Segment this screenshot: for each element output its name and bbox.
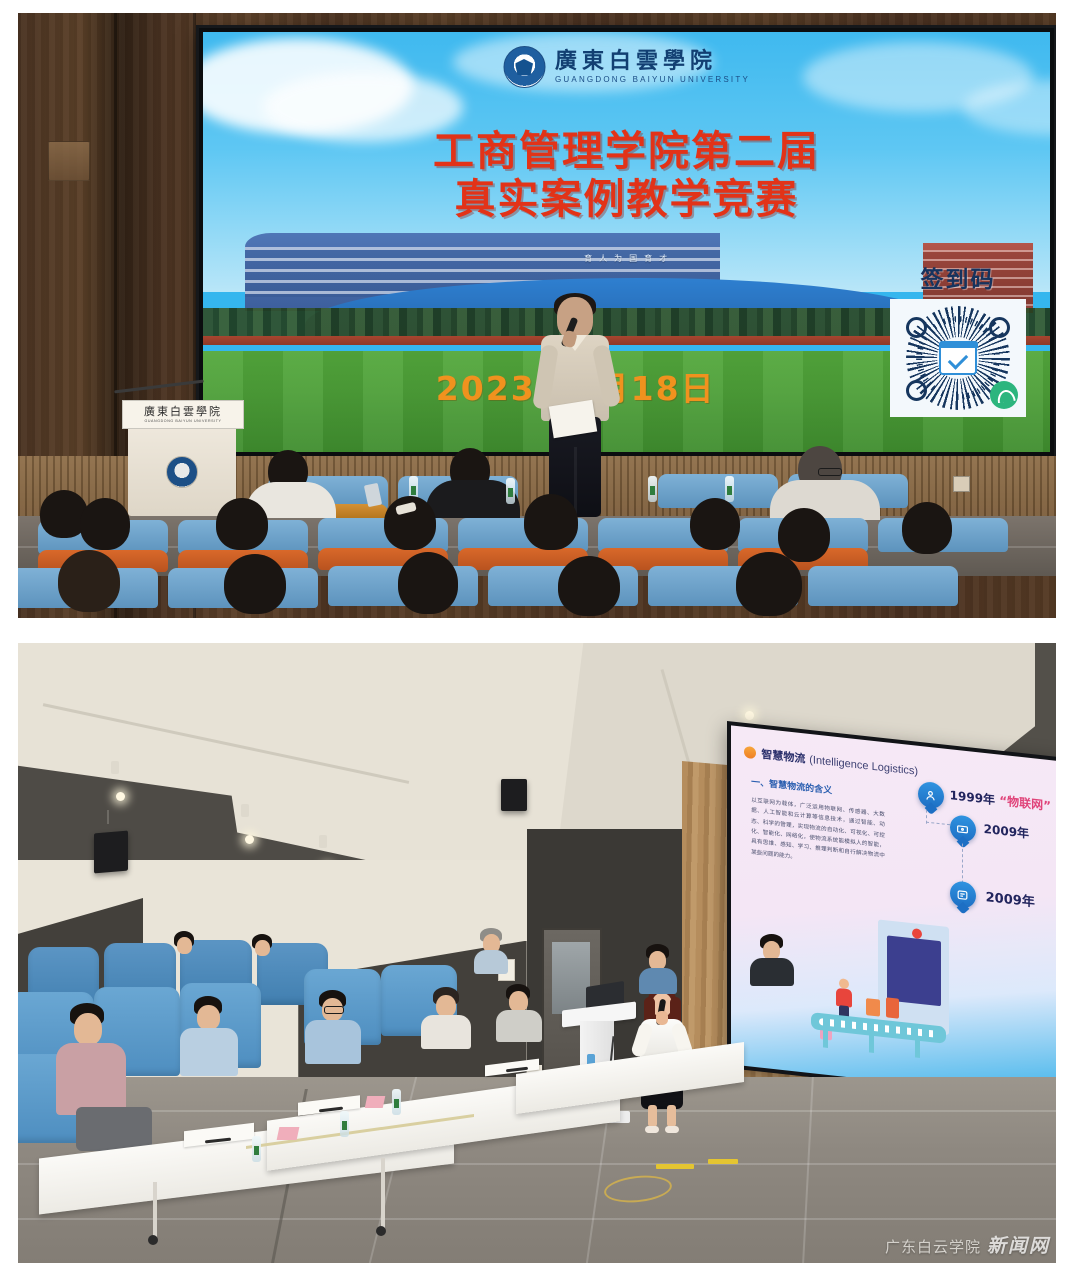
watermark: 广东白云学院 新闻网	[885, 1231, 1050, 1258]
floor-tape-marker	[708, 1159, 738, 1164]
podium-name-plate: 廣東白雲學院 GUANGDONG BAIYUN UNIVERSITY	[122, 400, 244, 429]
wallet-glyph	[956, 821, 969, 835]
track-light-glow	[116, 792, 125, 801]
water-bottle	[648, 476, 657, 502]
projection-screen-frame: 智慧物流 (Intelligence Logistics) 一、智慧物流的含义 …	[727, 721, 1056, 1105]
judge-body	[496, 1010, 542, 1042]
timeline-connector	[926, 821, 950, 825]
audience-head	[736, 552, 802, 616]
audience-head	[558, 556, 620, 616]
eyeglasses-icon	[818, 468, 842, 476]
qr-caption: 签到码	[890, 260, 1026, 294]
judge-body	[180, 1028, 238, 1076]
podium-name-en: GUANGDONG BAIYUN UNIVERSITY	[144, 419, 221, 423]
university-name-en: GUANGDONG BAIYUN UNIVERSITY	[555, 75, 750, 84]
projection-screen: 智慧物流 (Intelligence Logistics) 一、智慧物流的含义 …	[731, 725, 1056, 1101]
timeline-year-1: 1999年 “物联网”	[950, 786, 1051, 814]
desk-leg	[381, 1158, 385, 1232]
podium-name-cn: 廣東白雲學院	[144, 406, 222, 417]
audience-seat	[808, 566, 958, 606]
track-light-icon	[111, 761, 119, 774]
speaker-papers	[549, 400, 597, 438]
attendee-head	[177, 937, 192, 954]
qr-code-card	[890, 299, 1026, 417]
wall-speaker-icon	[94, 831, 128, 874]
attendee-head	[649, 951, 666, 970]
water-bottle	[340, 1111, 349, 1137]
audience-head	[398, 552, 458, 614]
judge-head	[436, 995, 456, 1017]
illustration-parcel	[866, 998, 880, 1017]
attendee-head	[255, 940, 270, 956]
judge-head	[509, 991, 528, 1012]
timeline-year-3: 2009年	[986, 886, 1035, 910]
water-bottle	[252, 1136, 261, 1162]
signin-qr-block: 签到码	[890, 260, 1026, 417]
bullet-dot-icon	[744, 745, 756, 758]
judge-body	[305, 1020, 361, 1064]
audience-head	[778, 508, 830, 562]
audience-head	[80, 498, 130, 550]
slide-heading-text: 智慧物流 (Intelligence Logistics)	[761, 745, 918, 778]
floor-tape-marker	[656, 1164, 694, 1169]
led-screen: 育人为国育才 廣東白雲學院 GUANGDONG BAIYUN UNIVERSIT…	[203, 32, 1050, 452]
led-screen-frame: 育人为国育才 廣東白雲學院 GUANGDONG BAIYUN UNIVERSIT…	[199, 28, 1054, 456]
wallet-icon	[950, 814, 976, 843]
illustration-lamp	[912, 927, 922, 938]
attendee-body	[639, 968, 677, 994]
door-window	[552, 942, 590, 1014]
water-bottle	[392, 1089, 401, 1115]
track-light-icon	[241, 804, 249, 817]
slide-title: 工商管理学院第二届 真实案例教学竞赛	[433, 127, 820, 224]
worker-head	[839, 977, 849, 988]
photo-presentation-session: 智慧物流 (Intelligence Logistics) 一、智慧物流的含义 …	[18, 643, 1056, 1263]
name-card	[364, 1096, 385, 1108]
qr-finder-icon	[906, 380, 927, 401]
judge-head	[74, 1013, 102, 1045]
water-bottle	[506, 478, 515, 504]
slide-title-line1: 工商管理学院第二届	[433, 127, 820, 175]
audience-head	[902, 502, 952, 554]
judge-head	[197, 1005, 220, 1030]
judge-body	[56, 1043, 126, 1115]
track-light-glow	[745, 711, 754, 720]
audience-head	[58, 550, 120, 612]
university-logo-lockup: 廣東白雲學院 GUANGDONG BAIYUN UNIVERSITY	[503, 46, 750, 88]
attendee-body	[474, 950, 508, 974]
university-seal-icon	[503, 46, 545, 88]
slide-heading-en: (Intelligence Logistics)	[809, 753, 918, 777]
judge-legs	[76, 1107, 152, 1151]
watermark-site: 新闻网	[987, 1231, 1050, 1258]
attendee-body	[750, 958, 794, 986]
logistics-illustration	[805, 903, 959, 1062]
slide-section-title: 一、智慧物流的含义	[751, 775, 832, 797]
university-logo-text: 廣東白雲學院 GUANGDONG BAIYUN UNIVERSITY	[555, 50, 750, 84]
audience-head	[690, 498, 740, 550]
university-name-cn: 廣東白雲學院	[555, 50, 717, 73]
audience-head	[216, 498, 268, 550]
document-glyph	[956, 887, 969, 901]
name-card	[276, 1127, 299, 1140]
wechat-miniprogram-icon	[990, 381, 1018, 409]
audience-area	[18, 468, 1056, 618]
water-bottle	[725, 476, 734, 502]
judge-body	[421, 1015, 471, 1049]
timeline-tag-1: “物联网”	[999, 793, 1051, 813]
photo-opening-ceremony: 育人为国育才 廣東白雲學院 GUANGDONG BAIYUN UNIVERSIT…	[18, 13, 1056, 618]
track-light-icon	[319, 835, 327, 848]
desk-caster	[376, 1226, 386, 1236]
timeline-connector	[962, 843, 963, 883]
speaker-mount-stem	[107, 810, 109, 824]
qr-finder-icon	[906, 317, 927, 338]
user-icon	[918, 780, 944, 809]
conveyor-leg	[869, 1032, 874, 1052]
desk-caster	[148, 1235, 158, 1245]
illustration-parcel	[886, 997, 899, 1018]
illustration-shelf-inner	[887, 935, 941, 1006]
floor-tile-line	[802, 1077, 814, 1263]
wall-speaker-icon	[501, 779, 527, 811]
building-signage: 育人为国育才	[584, 253, 674, 264]
document-icon	[950, 880, 976, 909]
slide-heading: 智慧物流 (Intelligence Logistics)	[744, 743, 918, 778]
slide-title-line2: 真实案例教学竞赛	[433, 175, 820, 223]
wall-light-panel	[48, 141, 90, 181]
conveyor-leg	[823, 1027, 828, 1047]
slide-heading-cn: 智慧物流	[761, 747, 805, 765]
presenter-shoes	[645, 1126, 679, 1133]
audience-head	[224, 554, 286, 614]
desk-leg	[153, 1182, 157, 1238]
eyeglasses-icon	[324, 1006, 344, 1014]
audience-head	[524, 494, 578, 550]
calendar-check-icon	[939, 341, 977, 375]
illustration-worker	[835, 977, 853, 1019]
news-photo-page: 育人为国育才 廣東白雲學院 GUANGDONG BAIYUN UNIVERSIT…	[0, 0, 1074, 1272]
user-glyph	[924, 788, 937, 802]
conveyor-leg	[915, 1037, 920, 1057]
floor-tile-line	[18, 1218, 1056, 1220]
presenter-hand	[656, 1011, 668, 1025]
qr-finder-icon	[989, 317, 1010, 338]
timeline-year-2: 2009年	[984, 820, 1029, 842]
slide-body-text: 以互联网为载体，广泛运用物联网、传感器、大数据、人工智能和云计算等信息技术，通过…	[751, 795, 885, 872]
check-mark-icon	[948, 349, 969, 370]
watermark-organization: 广东白云学院	[885, 1236, 981, 1257]
worker-body	[836, 987, 852, 1007]
timeline-connector	[926, 809, 927, 823]
